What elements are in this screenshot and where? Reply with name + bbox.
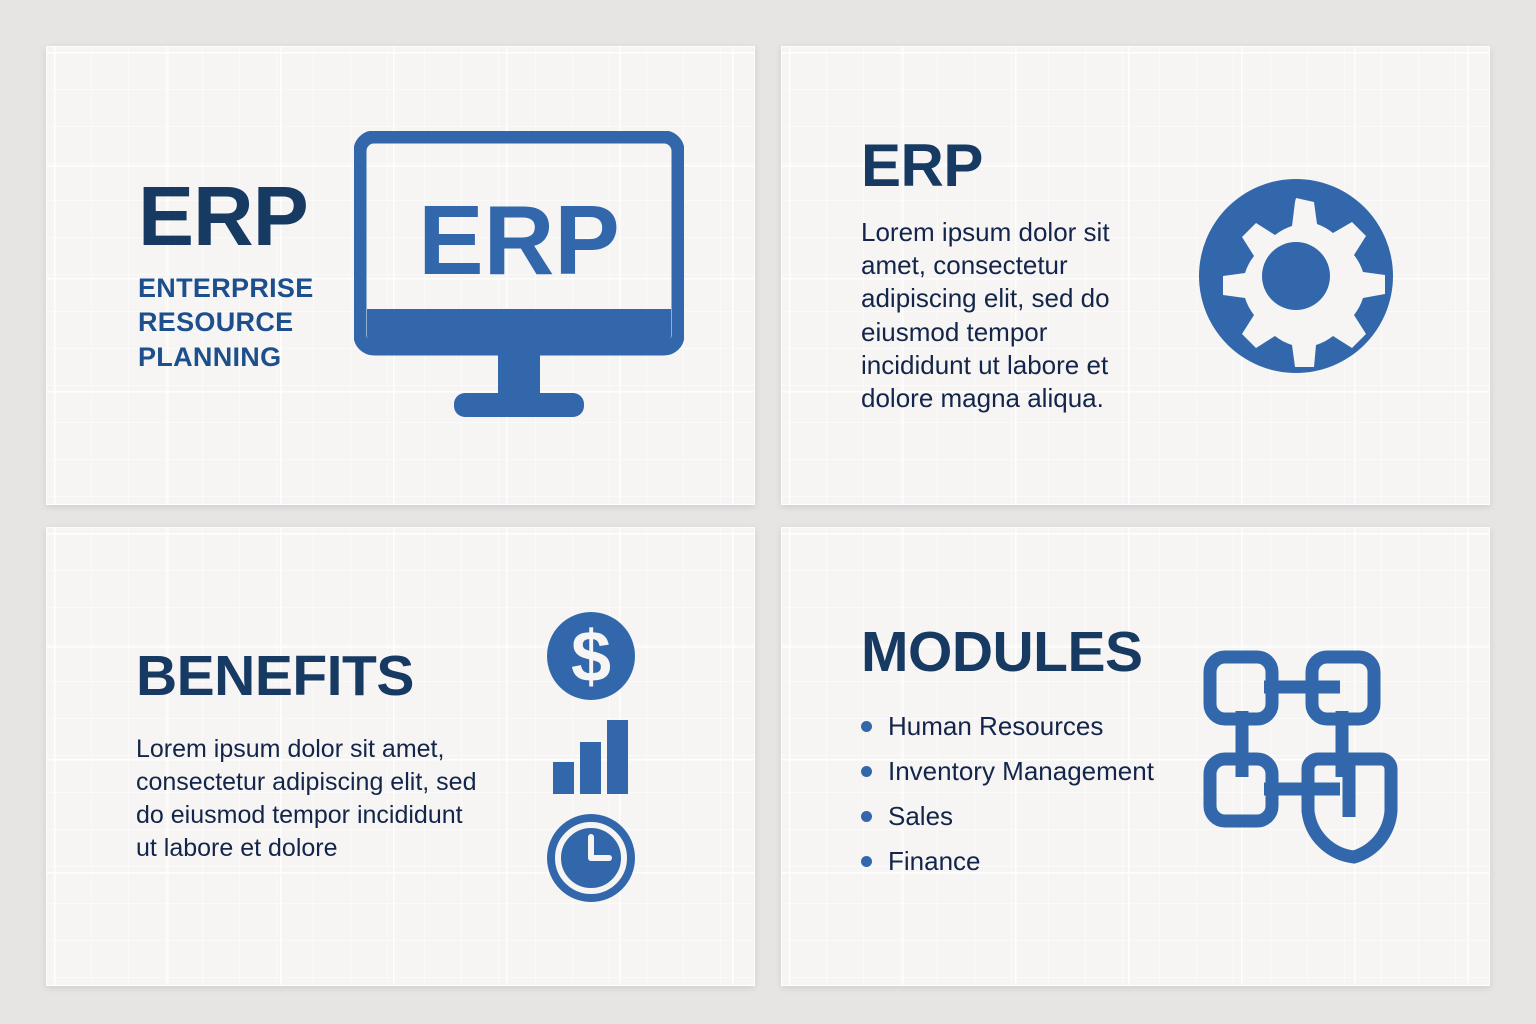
card-erp-title[interactable]: ERP ENTERPRISE RESOURCE PLANNING ERP [46,46,755,505]
description-heading: ERP [861,136,1136,196]
clock-icon [545,812,637,904]
erp-expansion: ENTERPRISE RESOURCE PLANNING [138,271,314,375]
erp-expansion-line-1: ENTERPRISE [138,271,314,306]
gear-icon [1196,176,1396,376]
network-icon-column [1154,649,1450,864]
modules-text-column: MODULES Human Resources Inventory Manage… [861,624,1154,889]
network-nodes-icon [1202,649,1402,864]
benefits-text-column: BENEFITS Lorem ipsum dolor sit amet, con… [136,648,486,866]
bullet-icon [861,811,872,822]
bullet-icon [861,856,872,867]
erp-expansion-line-3: PLANNING [138,340,314,375]
slide-board: ERP ENTERPRISE RESOURCE PLANNING ERP [0,0,1536,1024]
bar-chart-icon [551,718,631,796]
erp-expansion-line-2: RESOURCE [138,305,314,340]
card-benefits[interactable]: BENEFITS Lorem ipsum dolor sit amet, con… [46,527,755,986]
module-label: Inventory Management [888,754,1154,789]
description-body: Lorem ipsum dolor sit amet, consectetur … [861,216,1136,416]
erp-acronym: ERP [138,177,314,257]
list-item[interactable]: Sales [861,799,1154,834]
bullet-icon [861,766,872,777]
title-text-column: ERP ENTERPRISE RESOURCE PLANNING [138,177,314,374]
modules-heading: MODULES [861,624,1154,681]
list-item[interactable]: Inventory Management [861,754,1154,789]
benefits-heading: BENEFITS [136,648,486,705]
description-text-column: ERP Lorem ipsum dolor sit amet, consecte… [861,136,1136,416]
benefits-icon-column: $ [486,610,695,904]
monitor-icon-column: ERP [314,131,725,421]
monitor-icon: ERP [354,131,684,421]
module-label: Human Resources [888,709,1103,744]
gear-icon-column [1136,176,1456,376]
card-erp-description[interactable]: ERP Lorem ipsum dolor sit amet, consecte… [781,46,1490,505]
list-item[interactable]: Human Resources [861,709,1154,744]
bullet-icon [861,721,872,732]
module-label: Finance [888,844,981,879]
monitor-screen-label: ERP [419,185,621,295]
dollar-circle-icon: $ [545,610,637,702]
list-item[interactable]: Finance [861,844,1154,879]
modules-list: Human Resources Inventory Management Sal… [861,709,1154,889]
module-label: Sales [888,799,953,834]
card-modules[interactable]: MODULES Human Resources Inventory Manage… [781,527,1490,986]
svg-text:$: $ [570,617,610,697]
benefits-body: Lorem ipsum dolor sit amet, consectetur … [136,733,486,866]
